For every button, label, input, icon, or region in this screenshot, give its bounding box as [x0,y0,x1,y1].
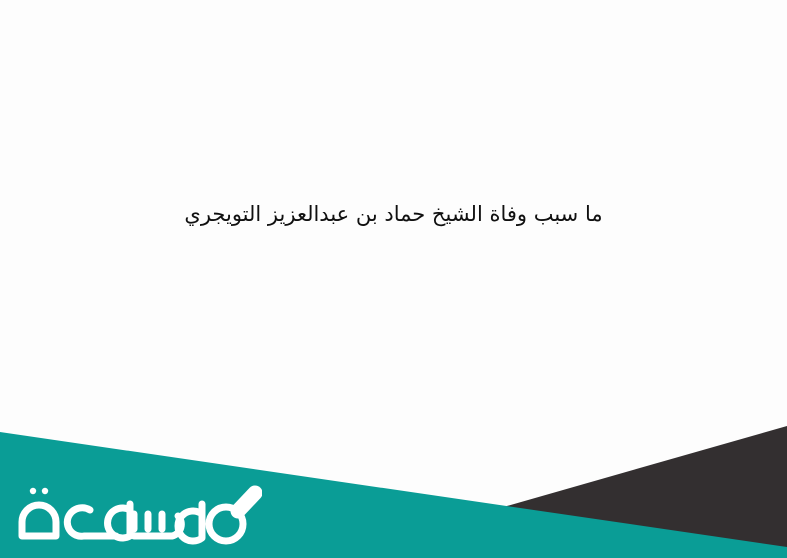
article-card: ما سبب وفاة الشيخ حماد بن عبدالعزيز التو… [0,0,787,558]
logo-glyph-waw-1 [108,504,130,538]
page-title: ما سبب وفاة الشيخ حماد بن عبدالعزيز التو… [184,199,602,231]
magnifier-logo-icon [12,474,262,546]
logo-glyph-ta-marbuta [22,505,56,536]
logo-glyph-seen [134,514,172,536]
brand-logo[interactable]: موسوعة [12,474,262,546]
logo-dot-right [42,488,48,494]
logo-glyph-waw-2 [178,504,202,541]
logo-dot-left [30,488,36,494]
title-container: ما سبب وفاة الشيخ حماد بن عبدالعزيز التو… [0,0,787,430]
logo-magnifier-handle [238,493,255,511]
logo-glyph-ain [67,508,100,536]
